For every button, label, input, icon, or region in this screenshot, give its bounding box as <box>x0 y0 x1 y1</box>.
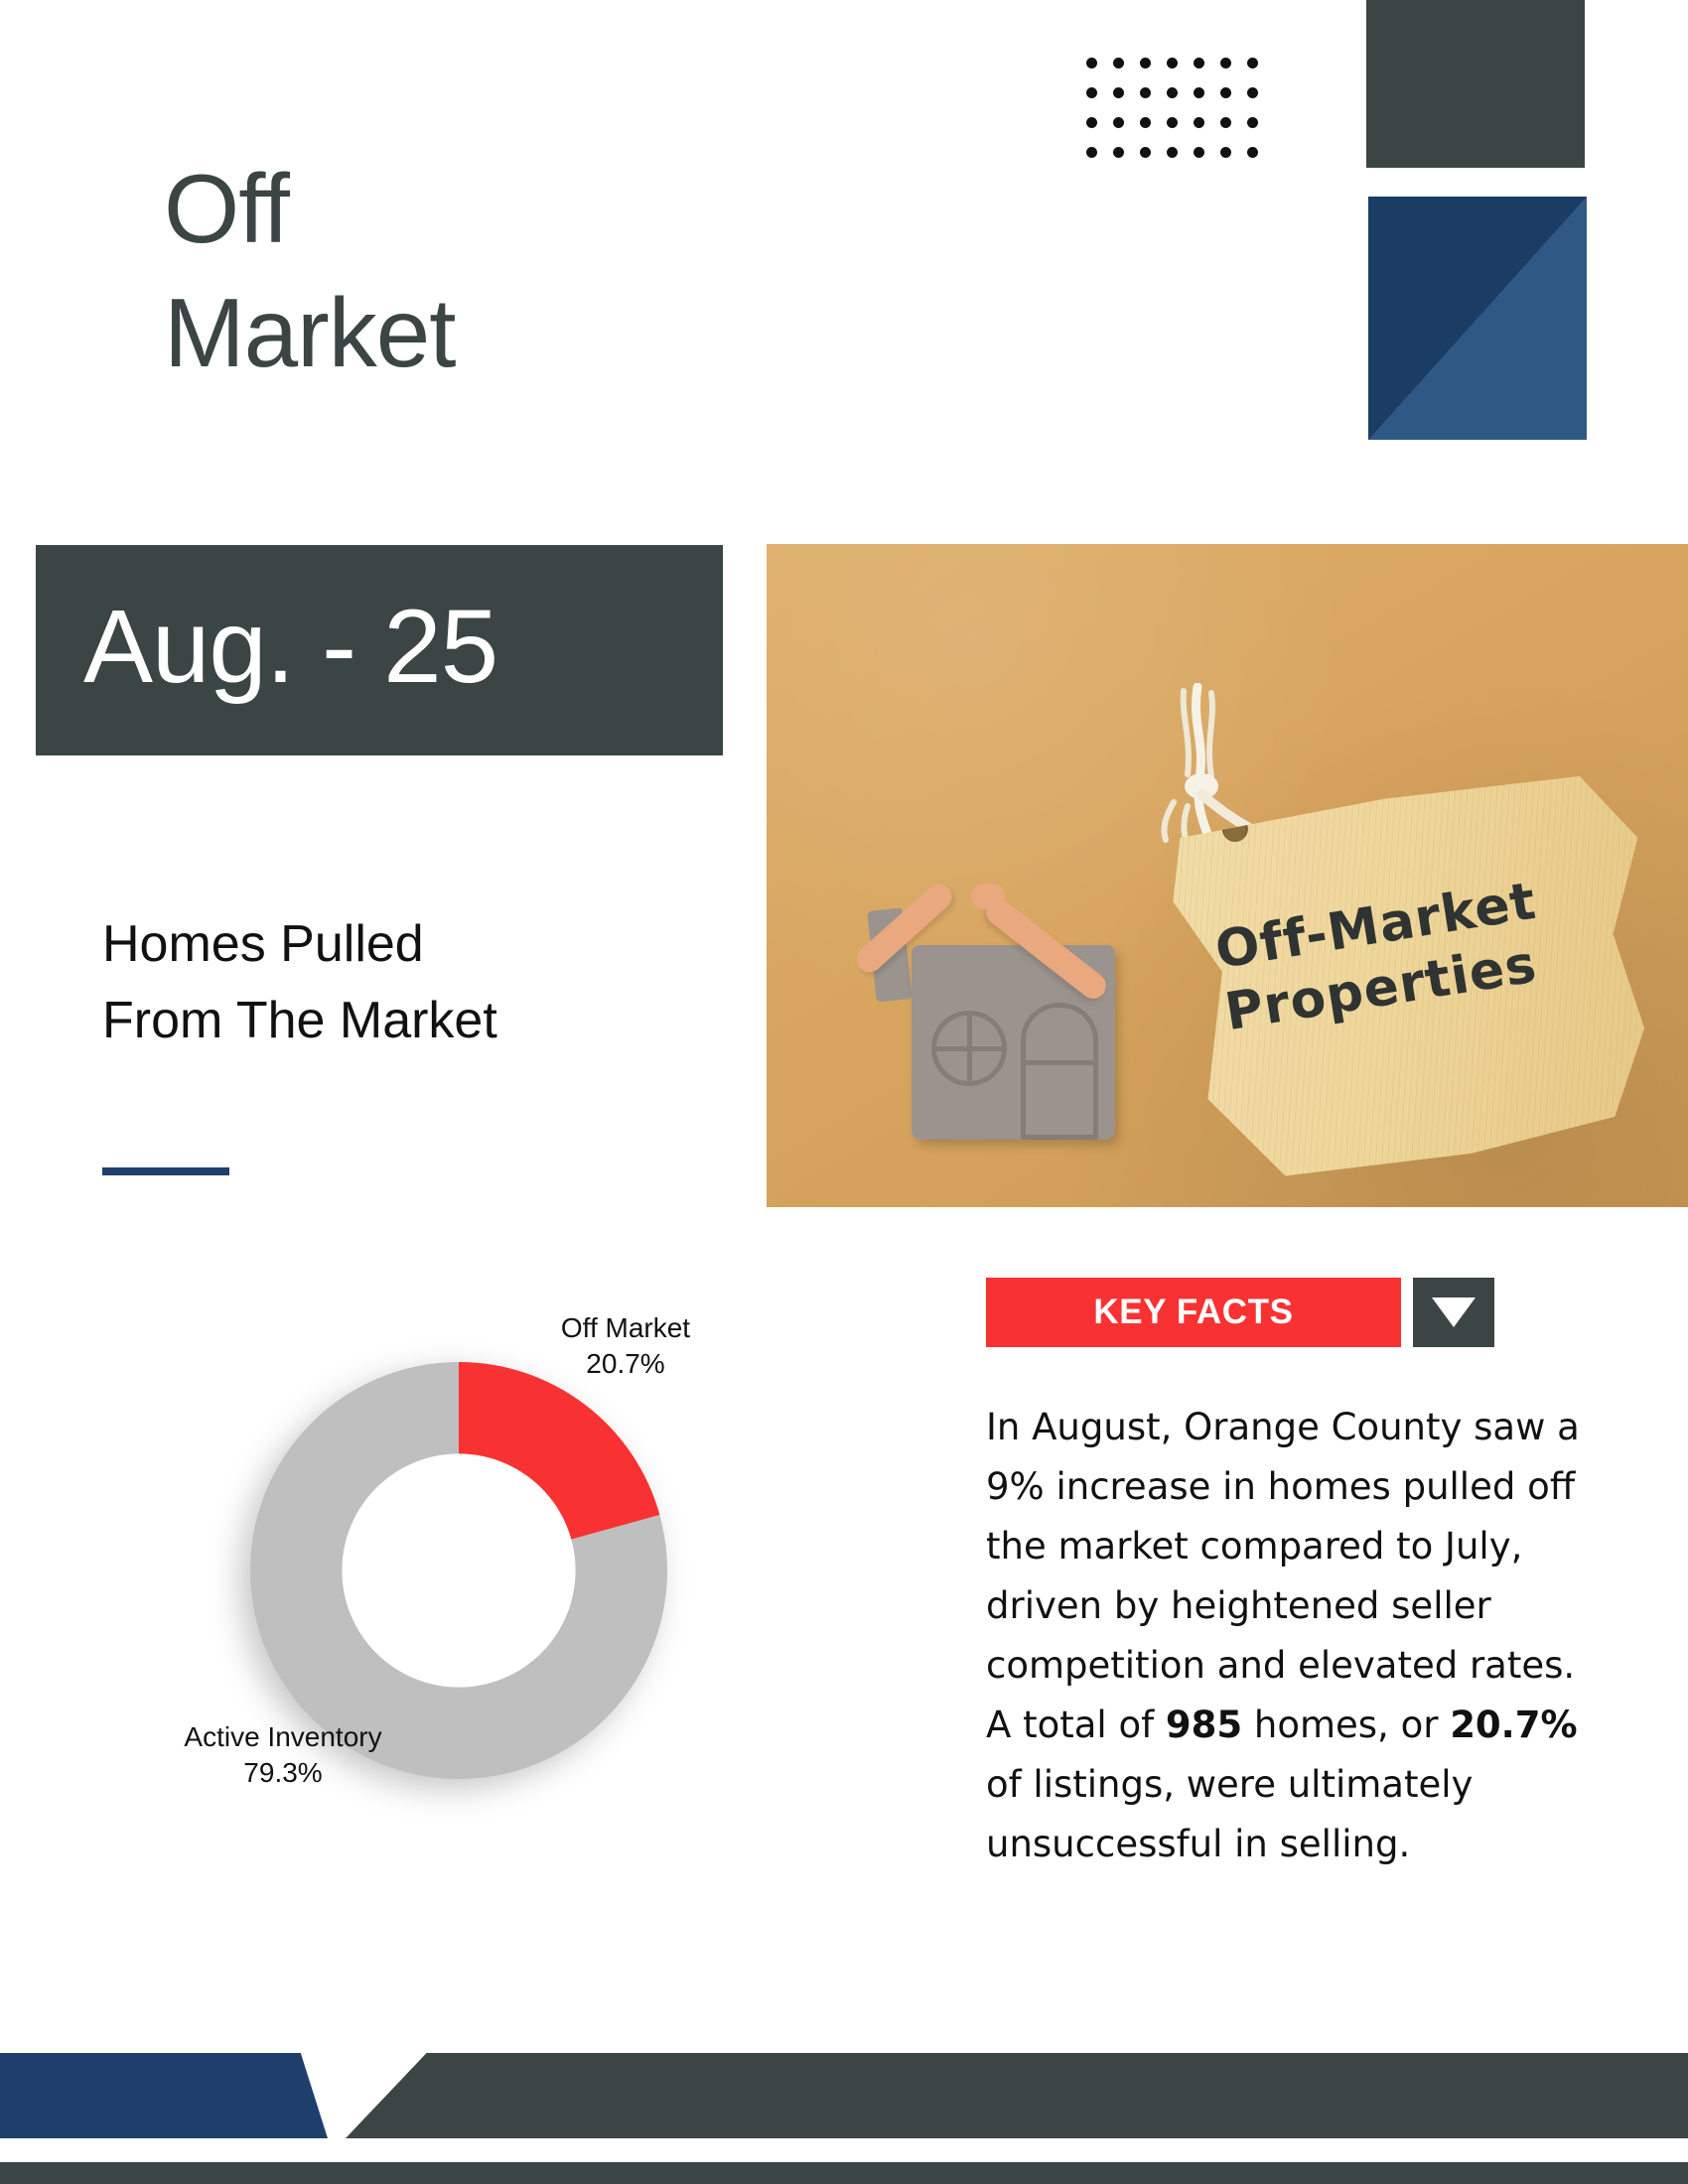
house-figurine-icon <box>854 864 1137 1142</box>
key-facts-expand-button[interactable] <box>1413 1278 1494 1347</box>
dot <box>1140 87 1151 98</box>
chart-label-off-market-value: 20.7% <box>492 1346 760 1382</box>
dot <box>1086 117 1097 128</box>
wooden-price-tag: Off-Market Properties <box>1169 766 1649 1179</box>
page-title: Off Market <box>164 147 779 396</box>
house-door-divider <box>1021 1060 1098 1065</box>
key-facts-text: In August, Orange County saw a 9% increa… <box>986 1406 1580 1746</box>
house-roof-peak <box>971 884 1005 909</box>
chevron-down-icon <box>1432 1297 1476 1327</box>
subtitle-line2: From The Market <box>102 983 738 1059</box>
dot <box>1247 117 1258 128</box>
donut-chart: Off Market 20.7% Active Inventory 79.3% <box>169 1320 923 1956</box>
house-window-round <box>931 1011 1007 1086</box>
key-facts-highlight: 20.7% <box>1450 1704 1577 1746</box>
dot <box>1194 117 1204 128</box>
subtitle-line1: Homes Pulled <box>102 906 738 983</box>
chart-label-active-inventory-value: 79.3% <box>129 1755 437 1791</box>
dot <box>1194 147 1204 158</box>
house-door <box>1021 1003 1098 1140</box>
dot <box>1194 87 1204 98</box>
dot <box>1194 58 1204 68</box>
date-banner: Aug. - 25 <box>36 545 723 755</box>
dot <box>1247 87 1258 98</box>
key-facts-body-text: In August, Orange County saw a 9% increa… <box>986 1398 1594 1874</box>
dot <box>1086 147 1097 158</box>
chart-label-off-market-name: Off Market <box>492 1310 760 1346</box>
key-facts-text: of listings, were ultimately unsuccessfu… <box>986 1763 1473 1865</box>
dot <box>1113 87 1124 98</box>
donut-chart-svg <box>250 1362 667 1779</box>
blue-square-diagonal-icon <box>1368 197 1587 440</box>
dot <box>1140 58 1151 68</box>
dot <box>1167 58 1178 68</box>
chart-label-active-inventory: Active Inventory 79.3% <box>129 1719 437 1791</box>
dot <box>1247 58 1258 68</box>
dot <box>1167 147 1178 158</box>
donut-chart-graphic <box>250 1362 667 1779</box>
dot <box>1113 147 1124 158</box>
chart-label-active-inventory-name: Active Inventory <box>129 1719 437 1755</box>
dot <box>1220 147 1231 158</box>
blue-split-square-decoration <box>1368 197 1587 440</box>
footer-dark-shape <box>346 2053 1688 2138</box>
dot <box>1086 58 1097 68</box>
dot <box>1220 58 1231 68</box>
accent-rule <box>102 1167 229 1175</box>
subtitle: Homes Pulled From The Market <box>102 906 738 1059</box>
key-facts-label: KEY FACTS <box>1093 1293 1293 1332</box>
key-facts-text: homes, or <box>1242 1704 1450 1746</box>
dot <box>1113 58 1124 68</box>
dot-grid-decoration <box>1086 58 1265 165</box>
key-facts-banner: KEY FACTS <box>986 1278 1401 1347</box>
donut-center-hole <box>342 1453 575 1687</box>
key-facts-highlight: 985 <box>1166 1704 1242 1746</box>
off-market-properties-photo: Off-Market Properties <box>767 544 1688 1207</box>
footer-bottom-bar <box>0 2162 1688 2184</box>
dot <box>1086 87 1097 98</box>
dot <box>1140 147 1151 158</box>
dot <box>1113 117 1124 128</box>
dark-square-decoration <box>1366 0 1585 168</box>
dot <box>1167 117 1178 128</box>
dot <box>1220 87 1231 98</box>
page-title-line1: Off <box>164 147 779 271</box>
date-banner-label: Aug. - 25 <box>36 595 497 699</box>
dot <box>1220 117 1231 128</box>
dot <box>1247 147 1258 158</box>
chart-label-off-market: Off Market 20.7% <box>492 1310 760 1382</box>
dot <box>1167 87 1178 98</box>
footer-blue-shape <box>0 2053 328 2138</box>
page-title-line2: Market <box>164 271 779 395</box>
dot <box>1140 117 1151 128</box>
